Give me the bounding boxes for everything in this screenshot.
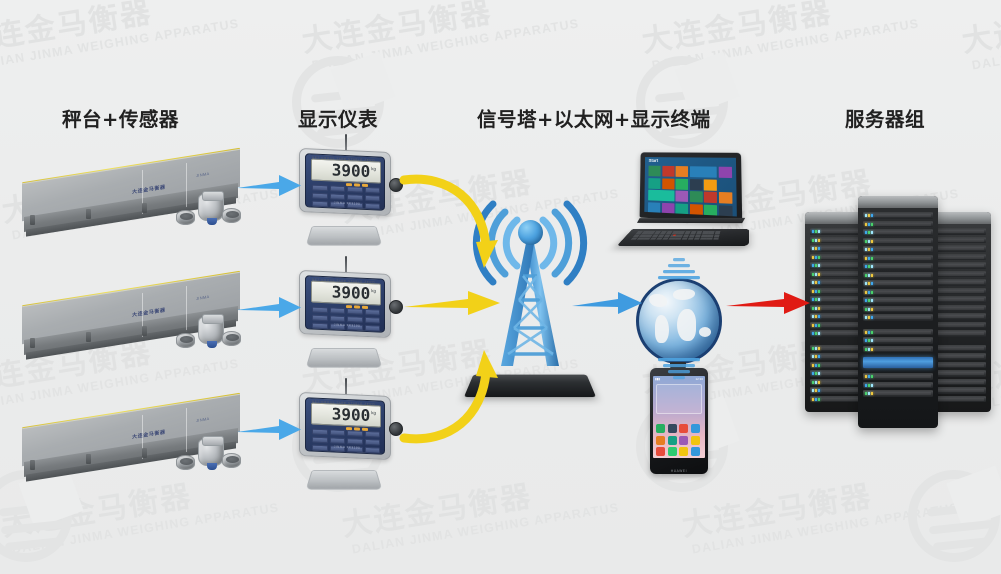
section-headers: 秤台+传感器 显示仪表 信号塔+以太网+显示终端 服务器组 [0,0,1001,574]
header-scale: 秤台+传感器 [62,103,179,132]
header-network: 信号塔+以太网+显示终端 [477,103,711,132]
header-indicator: 显示仪表 [298,103,378,132]
header-servers: 服务器组 [845,103,925,132]
diagram-canvas: 大连金马衡器DALIAN JINMA WEIGHING APPARATUS大连金… [0,0,1001,574]
